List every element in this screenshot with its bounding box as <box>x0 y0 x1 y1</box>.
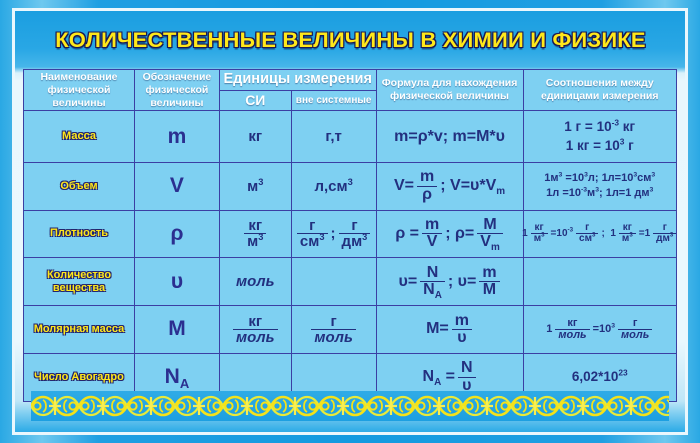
numerator: г <box>311 314 356 329</box>
row-unit-si: кг моль <box>219 306 291 354</box>
numerator: M <box>477 217 502 233</box>
row-symbol: m <box>135 111 220 162</box>
row-relations: 1м3 =103л; 1л=103см3 1л =10-3м3; 1л=1 дм… <box>523 162 677 210</box>
fraction-kg-over-m3: кг м3 <box>244 218 266 250</box>
row-name: Объем <box>24 162 135 210</box>
numerator: m <box>452 313 472 329</box>
row-unit-non-system <box>291 258 376 306</box>
numerator: N <box>458 360 476 376</box>
unit-separator: ; <box>331 225 336 242</box>
row-formula: υ= N NA ; υ= m M <box>376 258 523 306</box>
relation-1-exp: -3 <box>612 118 619 128</box>
fraction-kg-over-m3: кг м3 <box>531 223 548 244</box>
header-units-non-system: вне системные <box>291 91 376 111</box>
row-symbol: υ <box>135 258 220 306</box>
fraction-g-over-cm3: г см3 <box>576 223 598 244</box>
row-formula: m=ρ*v; m=M*υ <box>376 111 523 162</box>
relation-1-a: 1 г = 10 <box>564 119 611 134</box>
header-symbol: Обозначение физической величины <box>135 70 220 111</box>
row-symbol: V <box>135 162 220 210</box>
numerator: m <box>479 265 499 281</box>
numerator: кг <box>531 223 548 233</box>
row-name: Количество вещества <box>24 258 135 306</box>
denominator: моль <box>618 329 652 341</box>
kazakh-floral-border-icon <box>31 391 669 421</box>
fraction-N-over-NA: N NA <box>420 265 445 299</box>
relation-lead: 1 <box>546 322 552 337</box>
denominator: дм3 <box>653 233 676 244</box>
fraction-M-over-Vm: M Vm <box>477 217 502 251</box>
poster-root: КОЛИЧЕСТВЕННЫЕ ВЕЛИЧИНЫ В ХИМИИ И ФИЗИКЕ… <box>0 0 700 443</box>
formula-lhs: υ= <box>399 273 418 291</box>
row-unit-si: моль <box>219 258 291 306</box>
relation-line-1: 1 г = 10-3 кг <box>526 118 675 136</box>
row-name: Молярная масса <box>24 306 135 354</box>
row-relations: 1 кг моль =103 г моль <box>523 306 677 354</box>
table-row: Масса m кг г,т m=ρ*v; m=M*υ 1 г = 10-3 к… <box>24 111 677 162</box>
denominator: м3 <box>244 233 266 249</box>
unit-expression: г см3 ; г дм3 <box>294 218 374 250</box>
relation-lead: 1 <box>522 227 528 241</box>
denominator: дм3 <box>339 233 371 249</box>
formula-lhs: NA = <box>423 368 456 386</box>
header-name: Наименование физической величины <box>24 70 135 111</box>
fraction-g-over-mol: г моль <box>311 314 356 346</box>
table-row: Количество вещества υ моль υ= N NA <box>24 258 677 306</box>
denominator: см3 <box>297 233 328 249</box>
header-units-group: Единицы измерения <box>219 70 376 91</box>
row-relations: 1 г = 10-3 кг 1 кг = 103 г <box>523 111 677 162</box>
quantities-table: Наименование физической величины Обознач… <box>23 69 677 402</box>
row-formula: ρ = m V ; ρ= M Vm <box>376 210 523 258</box>
numerator: кг <box>619 223 636 233</box>
row-unit-non-system: г см3 ; г дм3 <box>291 210 376 258</box>
row-relations <box>523 258 677 306</box>
poster-inner-frame: КОЛИЧЕСТВЕННЫЕ ВЕЛИЧИНЫ В ХИМИИ И ФИЗИКЕ… <box>12 8 688 435</box>
fraction-m-over-nu: m υ <box>452 313 472 347</box>
formula-expression: V= m ρ ; V=υ*Vm <box>379 169 521 203</box>
fraction-g-over-mol: г моль <box>618 318 652 341</box>
relation-base: 6,02*10 <box>572 369 619 384</box>
relation-equals: =103 <box>593 322 615 337</box>
numerator: N <box>420 265 445 281</box>
header-formula: Формула для нахождения физической величи… <box>376 70 523 111</box>
denominator: M <box>479 281 499 298</box>
numerator: m <box>422 217 442 233</box>
formula-expression: ρ = m V ; ρ= M Vm <box>379 217 521 251</box>
relation-line-2: 1л =10-3м3; 1л=1 дм3 <box>526 186 675 201</box>
unit-base: м <box>247 178 258 195</box>
unit-base: л,см <box>314 178 347 195</box>
relation-2-exp: 3 <box>620 136 625 146</box>
numerator: г <box>618 318 652 329</box>
denominator: моль <box>233 329 278 345</box>
row-relations: 1 кг м3 =10-3 г см3 ; 1 <box>523 210 677 258</box>
fraction-g-over-dm3: г дм3 <box>653 223 676 244</box>
denominator: υ <box>452 329 472 346</box>
table-row: Плотность ρ кг м3 г <box>24 210 677 258</box>
ornament-svg <box>31 391 669 421</box>
row-name: Плотность <box>24 210 135 258</box>
unit-exp: 3 <box>258 177 263 187</box>
relation-expression: 1 кг моль =103 г моль <box>526 318 675 341</box>
fraction-g-over-cm3: г см3 <box>297 218 328 250</box>
row-unit-non-system: г,т <box>291 111 376 162</box>
numerator: кг <box>233 314 278 329</box>
table-row: Объем V м3 л,см3 V= m <box>24 162 677 210</box>
relation-expression: 1 кг м3 =10-3 г см3 ; 1 <box>526 223 675 244</box>
denominator: моль <box>311 329 356 345</box>
denominator: см3 <box>576 233 598 244</box>
denominator: Vm <box>477 233 502 250</box>
table-header: Наименование физической величины Обознач… <box>24 70 677 111</box>
denominator: V <box>422 233 442 250</box>
formula-text: m=ρ*v; m=M*υ <box>394 128 505 145</box>
title-bar: КОЛИЧЕСТВЕННЫЕ ВЕЛИЧИНЫ В ХИМИИ И ФИЗИКЕ <box>15 11 685 69</box>
symbol-base: N <box>165 365 180 388</box>
fraction-g-over-dm3: г дм3 <box>339 218 371 250</box>
page-title: КОЛИЧЕСТВЕННЫЕ ВЕЛИЧИНЫ В ХИМИИ И ФИЗИКЕ <box>55 28 646 53</box>
unit-exp: 3 <box>348 177 353 187</box>
row-name: Масса <box>24 111 135 162</box>
fraction-kg-over-mol: кг моль <box>233 314 278 346</box>
table-row: Молярная масса M кг моль г моль <box>24 306 677 354</box>
header-relations: Соотношения между единицами измерения <box>523 70 677 111</box>
numerator: m <box>417 169 437 185</box>
quantities-table-wrap: Наименование физической величины Обознач… <box>23 69 677 387</box>
relation-equals: =10-3 <box>551 227 573 241</box>
formula-expression: NA = N υ <box>379 360 521 394</box>
fraction-kg-over-mol: кг моль <box>555 318 589 341</box>
numerator: г <box>297 218 328 233</box>
relation-line-1: 1м3 =103л; 1л=103см3 <box>526 171 675 186</box>
denominator: моль <box>555 329 589 341</box>
denominator: NA <box>420 281 445 298</box>
denominator: м3 <box>531 233 548 244</box>
symbol-sub: A <box>180 376 189 391</box>
denominator: м3 <box>619 233 636 244</box>
fraction-m-over-V: m V <box>422 217 442 251</box>
header-units-si: СИ <box>219 91 291 111</box>
row-formula: V= m ρ ; V=υ*Vm <box>376 162 523 210</box>
relation-line-2: 1 кг = 103 г <box>526 137 675 155</box>
fraction-m-over-M: m M <box>479 265 499 299</box>
table-body: Масса m кг г,т m=ρ*v; m=M*υ 1 г = 10-3 к… <box>24 111 677 401</box>
relation-semicolon: ; 1 <box>601 227 615 241</box>
formula-expression: υ= N NA ; υ= m M <box>379 265 521 299</box>
table-header-row-1: Наименование физической величины Обознач… <box>24 70 677 91</box>
formula-lhs: V= <box>394 177 414 195</box>
relation-2-b: г <box>628 138 634 153</box>
row-unit-non-system: л,см3 <box>291 162 376 210</box>
numerator: г <box>339 218 371 233</box>
row-unit-non-system: г моль <box>291 306 376 354</box>
row-unit-si: кг м3 <box>219 210 291 258</box>
row-unit-si: м3 <box>219 162 291 210</box>
numerator: кг <box>555 318 589 329</box>
numerator: кг <box>244 218 266 233</box>
relation-1-b: кг <box>623 119 635 134</box>
fraction-m-over-rho: m ρ <box>417 169 437 203</box>
formula-separator: ; ρ= <box>445 225 474 243</box>
formula-lhs: ρ = <box>395 225 419 243</box>
formula-separator: ; υ= <box>448 273 476 291</box>
row-unit-si: кг <box>219 111 291 162</box>
row-symbol: M <box>135 306 220 354</box>
relation-equals-2: =1 <box>639 227 650 241</box>
row-symbol: ρ <box>135 210 220 258</box>
fraction-N-over-nu: N υ <box>458 360 476 394</box>
formula-lhs: M= <box>426 320 449 338</box>
relation-exp: 23 <box>618 368 627 378</box>
fraction-kg-over-m3-2: кг м3 <box>619 223 636 244</box>
formula-expression: M= m υ <box>379 313 521 347</box>
formula-separator: ; V=υ*Vm <box>440 177 505 195</box>
row-formula: M= m υ <box>376 306 523 354</box>
denominator: ρ <box>417 186 437 203</box>
relation-2-a: 1 кг = 10 <box>566 138 620 153</box>
